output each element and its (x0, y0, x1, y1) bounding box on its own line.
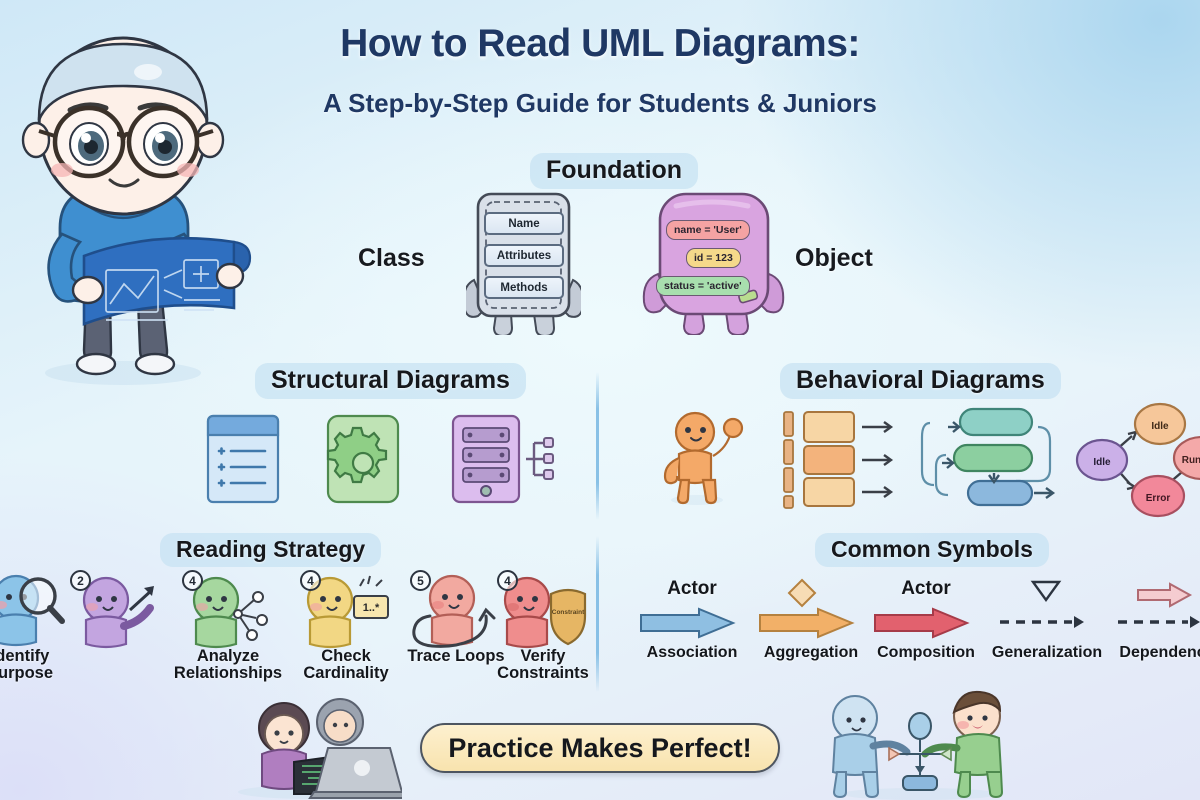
collaboration-illustration (825, 690, 1015, 800)
strategy-step-2: 2 (68, 570, 164, 655)
class-compartment-name: Name (484, 212, 564, 235)
symbol-composition-top: Actor (901, 578, 951, 600)
component-gear-icon (325, 413, 401, 510)
strategy-step-1: Identify Purpose (0, 570, 68, 655)
state-label-error: Error (1146, 493, 1171, 504)
class-compartment-attributes: Attributes (484, 244, 564, 267)
class-diagram-icon (205, 413, 281, 510)
symbols-heading: Common Symbols (815, 533, 1049, 567)
symbol-aggregation-label: Aggregation (764, 644, 858, 662)
strategy-step-4: 1..* 4 Check Cardinality (298, 570, 394, 655)
column-divider-top (596, 372, 599, 520)
step-label-6: Verify Constraints (487, 648, 599, 683)
step-label-3: Analyze Relationships (172, 648, 284, 683)
step-badge-3: 4 (182, 570, 203, 591)
activity-diagram-icon (920, 405, 1060, 516)
state-label-running: Running (1182, 455, 1200, 466)
use-case-actor-icon (655, 410, 747, 511)
behavioral-heading: Behavioral Diagrams (780, 363, 1061, 399)
step-label-1: Identify Purpose (0, 648, 76, 683)
strategy-step-5: 5 Trace Loops (408, 570, 504, 655)
state-label-idle-2: Idle (1151, 421, 1169, 432)
object-slot-id: id = 123 (686, 248, 741, 268)
state-label-idle-1: Idle (1093, 457, 1111, 468)
strategy-step-6: Constraint 4 Verify Constraints (495, 570, 591, 655)
sequence-diagram-icon (778, 408, 902, 515)
students-coding-illustration (222, 692, 402, 800)
step-label-4: Check Cardinality (290, 648, 402, 683)
object-slot-name: name = 'User' (666, 220, 750, 240)
deployment-server-icon (450, 413, 556, 510)
object-label: Object (795, 244, 873, 273)
step-badge-4: 4 (300, 570, 321, 591)
practice-banner: Practice Makes Perfect! (420, 723, 780, 773)
cardinality-card-text: 1..* (363, 602, 380, 614)
mascot-illustration (0, 28, 258, 388)
shield-text: Constraint (552, 609, 585, 616)
symbol-generalization-label: Generalization (992, 644, 1102, 662)
state-machine-icon: Idle Idle Running Error (1072, 398, 1200, 523)
object-figure: name = 'User' id = 123 status = 'active' (636, 190, 791, 335)
symbol-dependency-label: Dependency (1119, 644, 1200, 662)
structural-heading: Structural Diagrams (255, 363, 526, 399)
class-figure: Name Attributes Methods (466, 190, 581, 335)
step-badge-6: 4 (497, 570, 518, 591)
uml-infographic-poster: How to Read UML Diagrams: A Step-by-Step… (0, 0, 1200, 800)
symbol-association-label: Association (647, 644, 738, 662)
class-label: Class (358, 244, 425, 273)
foundation-heading: Foundation (530, 153, 698, 189)
step-badge-2: 2 (70, 570, 91, 591)
symbol-composition-label: Composition (877, 644, 975, 662)
class-compartment-methods: Methods (484, 276, 564, 299)
strategy-step-3: 4 Analyze Relationships (180, 570, 276, 655)
strategy-heading: Reading Strategy (160, 533, 381, 567)
object-slot-status: status = 'active' (656, 276, 750, 296)
step-badge-5: 5 (410, 570, 431, 591)
symbol-association-top: Actor (667, 578, 717, 600)
